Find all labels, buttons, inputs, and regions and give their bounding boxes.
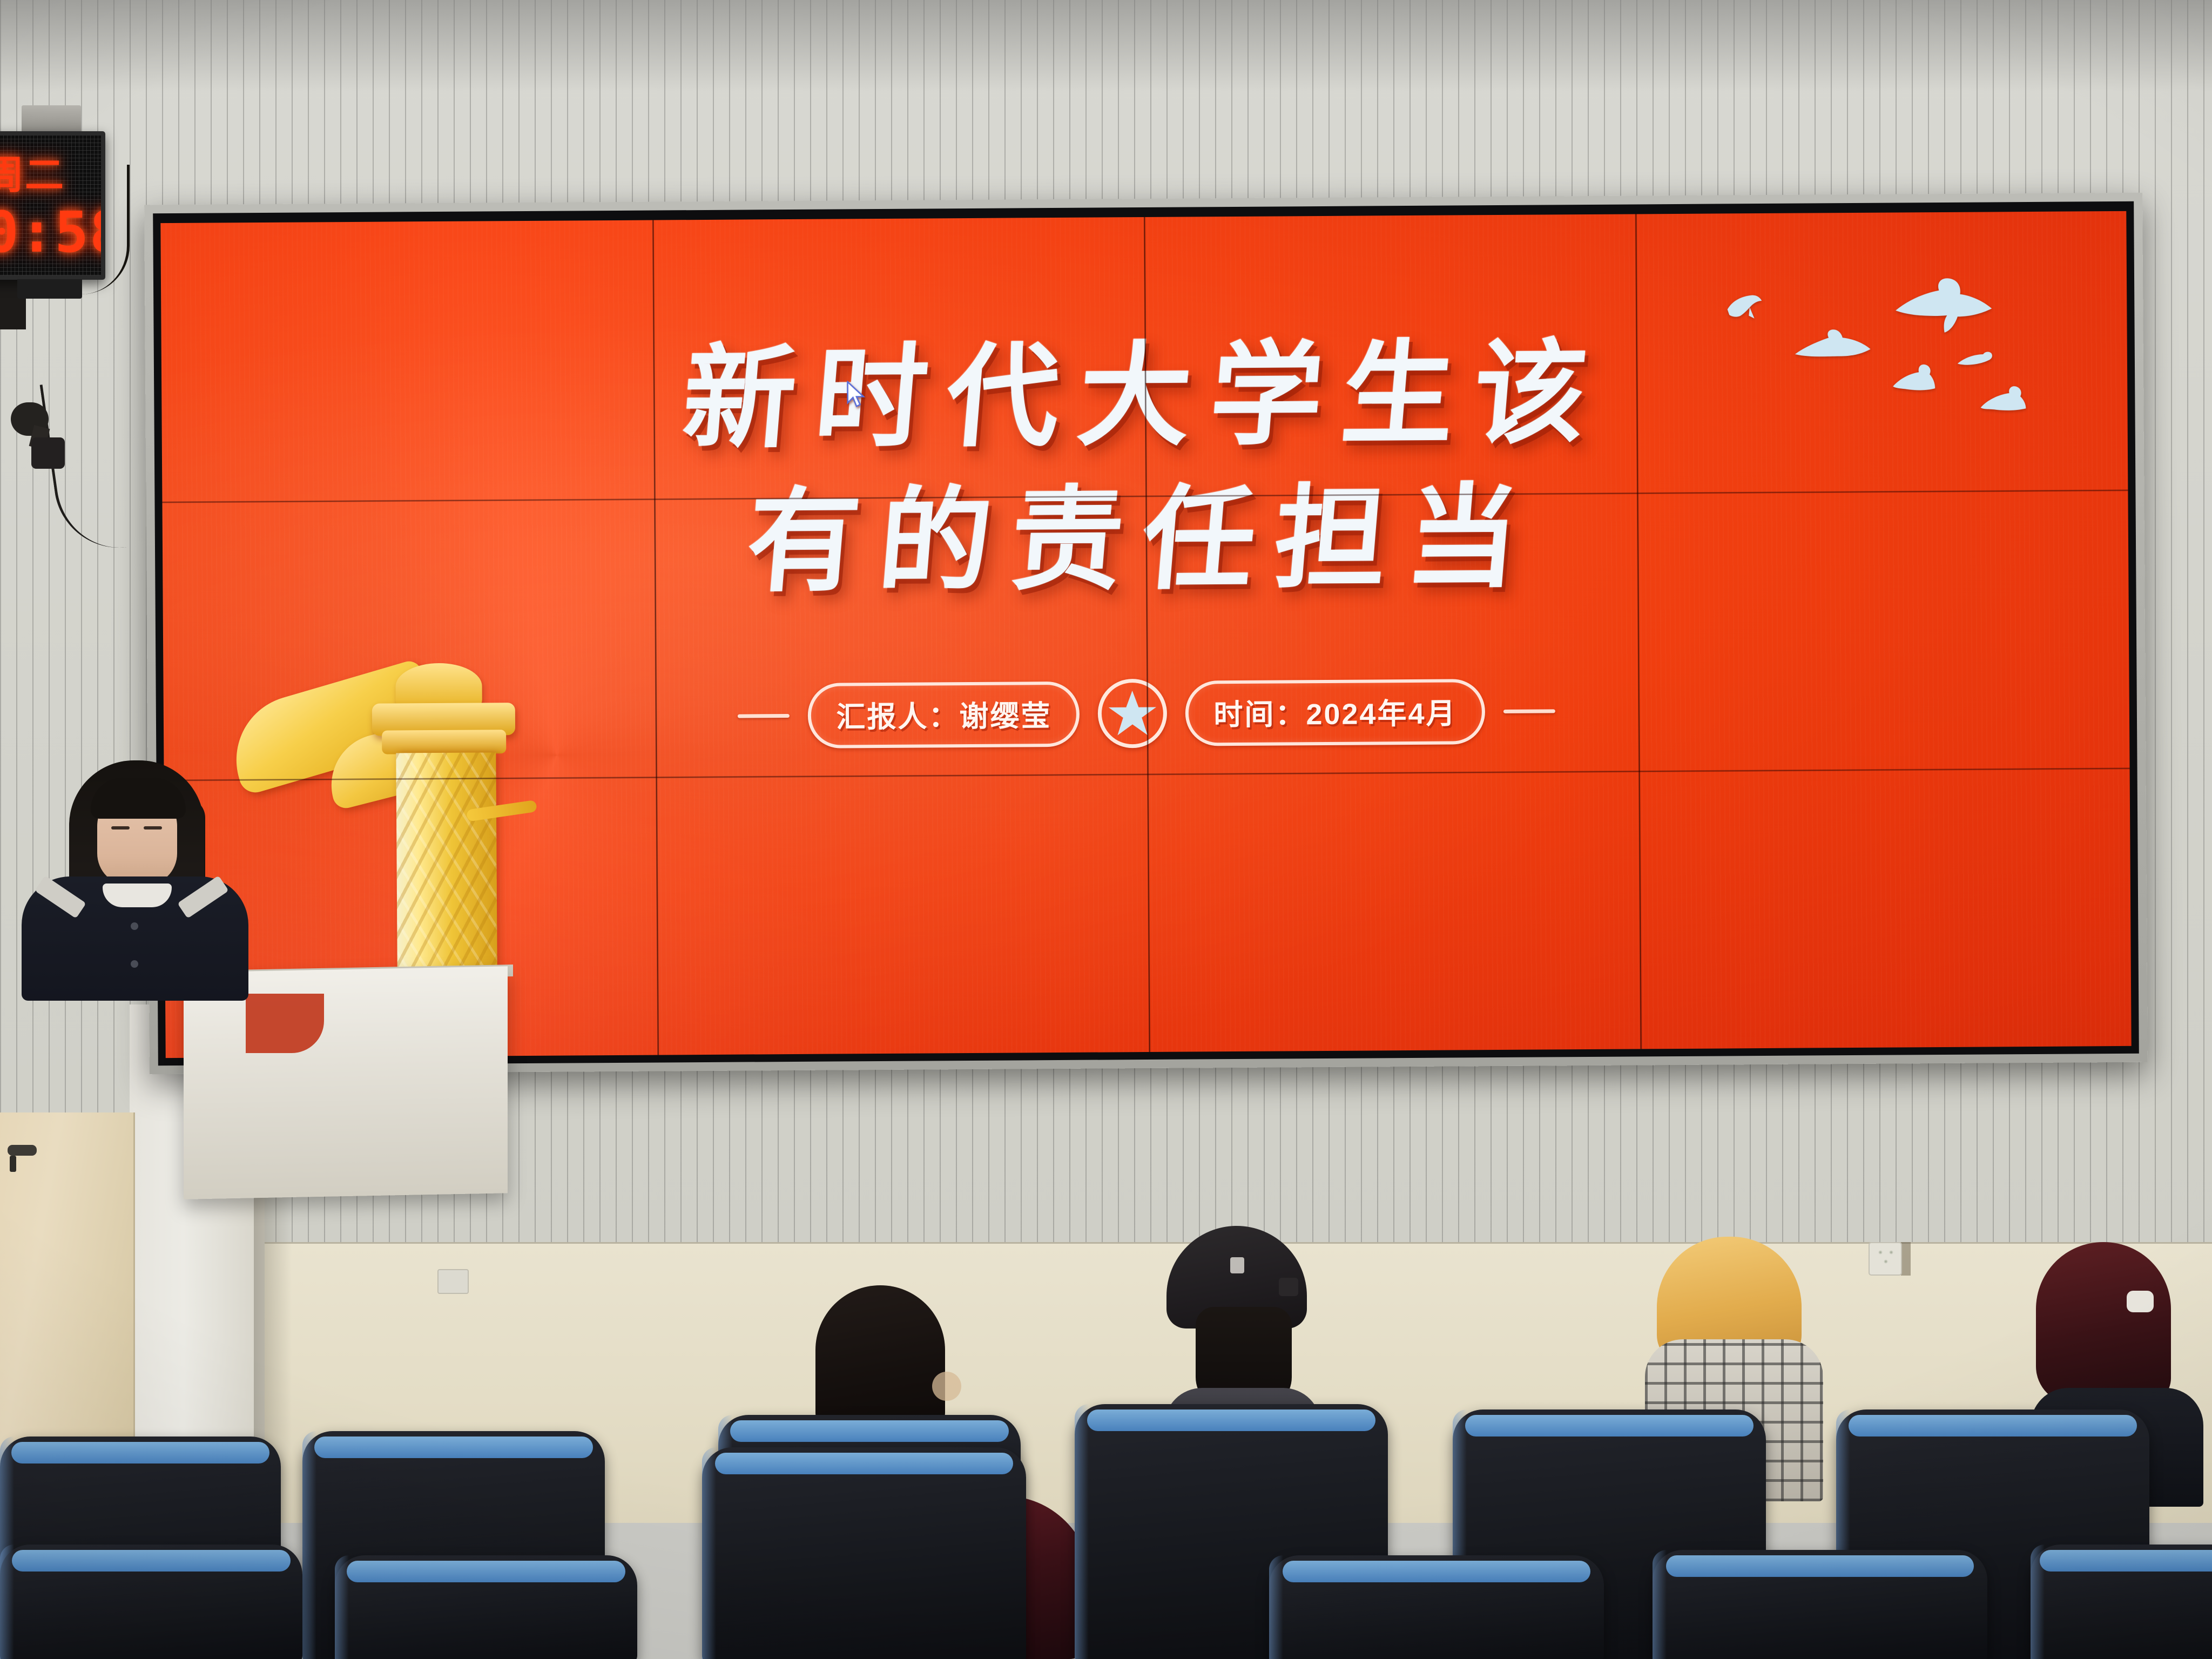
presenter-jacket-button: [131, 960, 138, 968]
video-wall-bezel: 新时代大学生该 有的责任担当 汇报人：谢缨莹 时间：2024年4月: [153, 201, 2139, 1065]
presenter-pill: 汇报人：谢缨莹: [808, 681, 1080, 748]
seat[interactable]: [702, 1447, 1026, 1659]
cap-strap: [1279, 1278, 1298, 1296]
meta-dash-left: [738, 714, 790, 718]
wall-outlet-shadow: [1901, 1242, 1911, 1276]
presenter-jacket-button: [131, 922, 138, 930]
video-wall-frame: 新时代大学生该 有的责任担当 汇报人：谢缨莹 时间：2024年4月: [144, 193, 2148, 1075]
person-red-hair: [2036, 1242, 2171, 1404]
podium-red-drape: [246, 994, 324, 1053]
podium: [184, 966, 508, 1199]
hair-clip-icon: [2127, 1291, 2154, 1312]
dove-icon: [1722, 288, 1768, 327]
person-glasses-icon: [932, 1372, 961, 1401]
camera-base: [31, 437, 65, 469]
wall-outlet-right: [1869, 1242, 1902, 1276]
lecture-hall-scene: 周二 0:58: [0, 0, 2212, 1659]
seat[interactable]: [1653, 1550, 1987, 1659]
seat[interactable]: [335, 1555, 637, 1659]
seat[interactable]: [2031, 1545, 2212, 1659]
date-pill: 时间：2024年4月: [1185, 679, 1485, 746]
led-clock-cable: [65, 165, 130, 294]
led-clock-display: 周二 0:58: [0, 105, 116, 348]
door-handle-icon[interactable]: [8, 1145, 37, 1156]
presenter-fringe: [91, 778, 186, 819]
presenter-collar: [103, 884, 172, 907]
presenter-at-podium: [16, 760, 248, 998]
seat[interactable]: [0, 1545, 302, 1659]
cap-logo: [1230, 1257, 1244, 1273]
seat[interactable]: [1269, 1555, 1604, 1659]
led-clock-bracket: [22, 105, 81, 133]
presenter-eye-left: [111, 826, 130, 829]
presenter-eye-right: [144, 826, 162, 829]
five-pointed-star-icon: [1107, 687, 1159, 740]
video-wall-screen[interactable]: 新时代大学生该 有的责任担当 汇报人：谢缨莹 时间：2024年4月: [160, 211, 2131, 1058]
led-day-text: 周二: [0, 143, 65, 200]
star-badge: [1098, 679, 1168, 748]
door-key-icon: [10, 1156, 16, 1172]
meta-dash-right: [1503, 709, 1555, 713]
wall-outlet-left: [437, 1269, 469, 1294]
ceiling-shadow: [0, 0, 2212, 92]
mouse-cursor-icon: [845, 381, 866, 412]
